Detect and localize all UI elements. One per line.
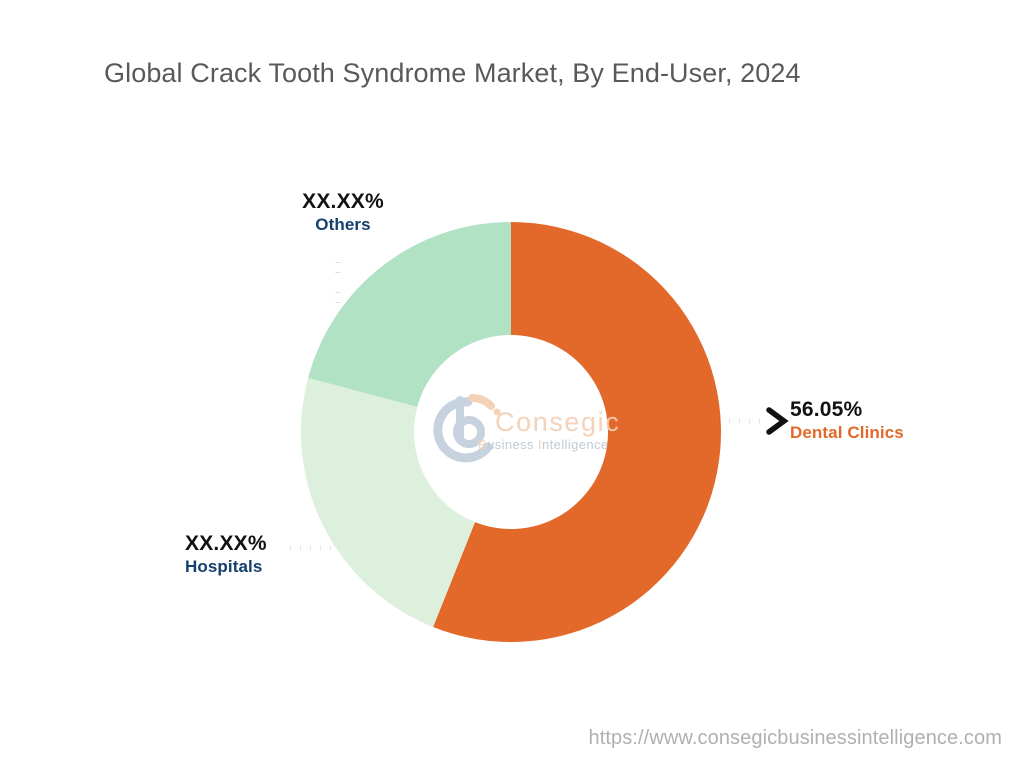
pie-slice-others[interactable] [308, 222, 511, 407]
callout-others: XX.XX% Others [297, 190, 389, 235]
donut-chart-svg: Consegic Business Intelligence [0, 0, 1024, 768]
watermark-tagline: Business Intelligence [478, 437, 609, 452]
callout-dental-percent: 56.05% [790, 398, 904, 422]
callout-dental-clinics: 56.05% Dental Clinics [790, 398, 904, 443]
watermark-brand: Consegic [495, 407, 620, 437]
donut-chart: Consegic Business Intelligence [0, 0, 1024, 768]
callout-others-label: Others [297, 214, 389, 235]
watermark-logo: Consegic Business Intelligence [438, 398, 621, 458]
callout-hospitals-percent: XX.XX% [185, 532, 267, 556]
footer-url[interactable]: https://www.consegicbusinessintelligence… [589, 727, 1003, 750]
callout-others-percent: XX.XX% [297, 190, 389, 214]
callout-hospitals-label: Hospitals [185, 556, 267, 577]
callout-dental-label: Dental Clinics [790, 422, 904, 443]
callout-hospitals: XX.XX% Hospitals [185, 532, 267, 577]
leader-arrowhead-dental [769, 410, 784, 432]
